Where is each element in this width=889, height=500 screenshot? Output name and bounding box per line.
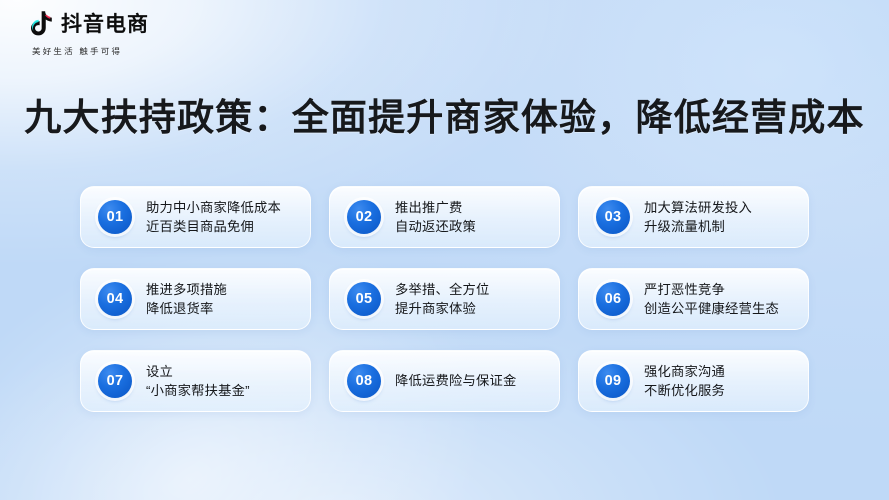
policy-card-07[interactable]: 07 设立 “小商家帮扶基金” [80,350,311,412]
policy-card-01[interactable]: 01 助力中小商家降低成本 近百类目商品免佣 [80,186,311,248]
policy-grid: 01 助力中小商家降低成本 近百类目商品免佣 02 推出推广费 自动返还政策 0… [80,186,810,412]
policy-line: 升级流量机制 [644,217,752,236]
policy-line: 近百类目商品免佣 [146,217,281,236]
policy-card-08[interactable]: 08 降低运费险与保证金 [329,350,560,412]
policy-number-badge: 06 [596,282,630,316]
policy-line: 多举措、全方位 [395,280,489,299]
policy-line: 推出推广费 [395,198,476,217]
policy-number-badge: 05 [347,282,381,316]
brand-tagline: 美好生活 触手可得 [32,45,122,56]
policy-card-06[interactable]: 06 严打恶性竞争 创造公平健康经营生态 [578,268,809,330]
policy-line: 降低运费险与保证金 [395,373,516,389]
policy-line: 降低退货率 [146,299,227,318]
policy-number-badge: 08 [347,364,381,398]
policy-line: 严打恶性竞争 [644,280,779,299]
policy-number-badge: 07 [98,364,132,398]
policy-card-04[interactable]: 04 推进多项措施 降低退货率 [80,268,311,330]
policy-line: 创造公平健康经营生态 [644,299,779,318]
policy-card-09[interactable]: 09 强化商家沟通 不断优化服务 [578,350,809,412]
page-title: 九大扶持政策：全面提升商家体验，降低经营成本 [0,96,889,140]
policy-line: “小商家帮扶基金” [146,381,250,400]
policy-number-badge: 04 [98,282,132,316]
policy-text: 强化商家沟通 不断优化服务 [644,362,725,401]
tiktok-note-icon [28,10,54,38]
policy-text: 多举措、全方位 提升商家体验 [395,280,489,319]
policy-text: 助力中小商家降低成本 近百类目商品免佣 [146,198,281,237]
policy-text: 推出推广费 自动返还政策 [395,198,476,237]
policy-number-badge: 09 [596,364,630,398]
policy-card-03[interactable]: 03 加大算法研发投入 升级流量机制 [578,186,809,248]
policy-line: 助力中小商家降低成本 [146,198,281,217]
policy-number-badge: 03 [596,200,630,234]
policy-line: 设立 [146,362,250,381]
policy-text: 推进多项措施 降低退货率 [146,280,227,319]
policy-text: 降低运费险与保证金 [395,373,516,389]
brand-name: 抖音电商 [61,14,149,35]
policy-card-05[interactable]: 05 多举措、全方位 提升商家体验 [329,268,560,330]
policy-text: 设立 “小商家帮扶基金” [146,362,250,401]
brand-logo-row: 抖音电商 [28,10,149,38]
policy-number-badge: 02 [347,200,381,234]
policy-line: 提升商家体验 [395,299,489,318]
policy-line: 推进多项措施 [146,280,227,299]
poster-canvas: 抖音电商 美好生活 触手可得 九大扶持政策：全面提升商家体验，降低经营成本 01… [0,0,889,500]
policy-line: 自动返还政策 [395,217,476,236]
policy-text: 加大算法研发投入 升级流量机制 [644,198,752,237]
brand-logo: 抖音电商 美好生活 触手可得 [28,10,149,57]
policy-line: 加大算法研发投入 [644,198,752,217]
policy-text: 严打恶性竞争 创造公平健康经营生态 [644,280,779,319]
policy-card-02[interactable]: 02 推出推广费 自动返还政策 [329,186,560,248]
policy-number-badge: 01 [98,200,132,234]
policy-line: 不断优化服务 [644,381,725,400]
policy-line: 强化商家沟通 [644,362,725,381]
